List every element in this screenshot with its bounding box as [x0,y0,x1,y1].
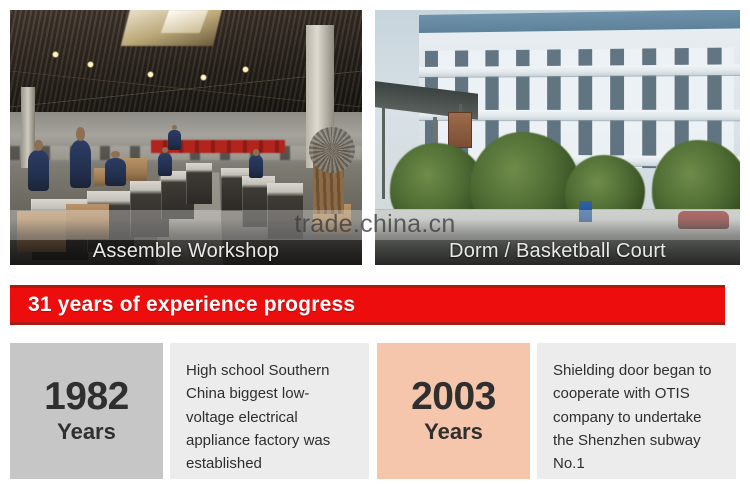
workshop-worker [105,158,126,186]
timeline-description-text: High school Southern China biggest low-v… [186,359,356,475]
workshop-worker [158,153,172,176]
experience-banner: 31 years of experience progress [10,285,725,325]
timeline-year-box: 2003 Years [377,343,530,479]
basketball-backboard-icon [448,112,472,148]
photo-caption-bar: Dorm / Basketball Court [375,219,740,265]
timeline-year-label: Years [57,418,116,446]
timeline-year-label: Years [424,418,483,446]
dorm-canopy-leg [382,107,385,199]
timeline-description-text: Shielding door began to cooperate with O… [553,359,723,475]
photo-caption-bar: Assemble Workshop [10,219,362,265]
timeline-spacer [369,343,377,479]
workshop-lamp [52,51,59,58]
photo-gallery: Assemble Workshop [0,0,750,270]
workshop-worker [70,140,91,188]
experience-banner-title: 31 years of experience progress [10,293,355,317]
timeline-year-number: 2003 [411,377,496,416]
timeline-item-2003[interactable]: 2003 Years Shielding door began to coope… [377,343,736,479]
workshop-skylight-small [161,10,208,33]
workshop-worker [249,155,263,178]
timeline-spacer [163,343,170,479]
workshop-cabinet [186,163,212,204]
photo-dorm-basketball-court[interactable]: Dorm / Basketball Court [375,10,740,265]
timeline-year-box: 1982 Years [10,343,163,479]
photo-caption-label: Dorm / Basketball Court [449,240,666,263]
workshop-worker [168,130,180,150]
photo-assemble-workshop[interactable]: Assemble Workshop [10,10,362,265]
dorm-roof-band [419,10,740,33]
timeline-item-1982[interactable]: 1982 Years High school Southern China bi… [10,343,369,479]
timeline-year-number: 1982 [44,377,129,416]
workshop-worker [28,150,49,191]
photo-caption-label: Assemble Workshop [93,240,279,263]
timeline-description-box: Shielding door began to cooperate with O… [537,343,736,479]
dorm-floor-band [419,64,740,77]
timeline-description-box: High school Southern China biggest low-v… [170,343,369,479]
timeline-spacer [530,343,537,479]
workshop-lamp [200,74,207,81]
timeline: 1982 Years High school Southern China bi… [10,343,740,479]
workshop-fan [309,127,355,173]
